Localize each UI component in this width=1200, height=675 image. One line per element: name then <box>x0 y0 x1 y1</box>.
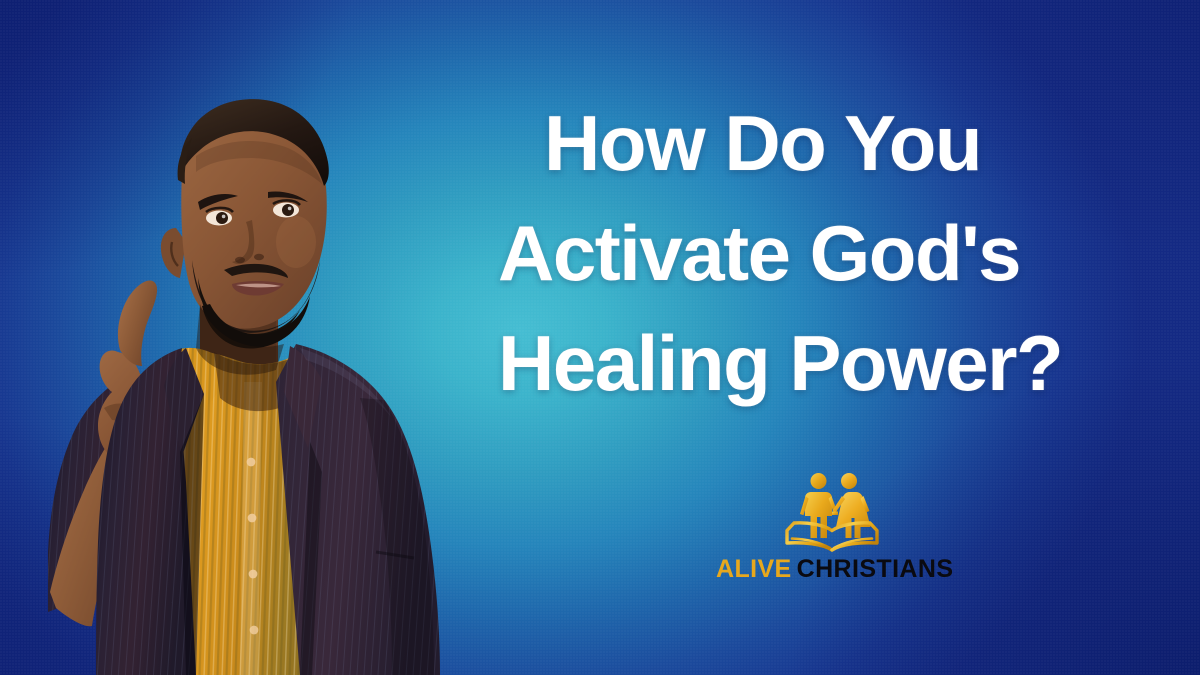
logo-word-christians: CHRISTIANS <box>797 555 954 583</box>
title-line-3: Healing Power? <box>498 308 1098 418</box>
alive-christians-logo[interactable]: ALIVECHRISTIANS <box>716 470 948 590</box>
thinking-man-photo <box>0 52 492 675</box>
logo-mark-figures-on-book <box>762 470 902 561</box>
title-block: How Do You Activate God's Healing Power? <box>498 88 1098 418</box>
logo-wordmark: ALIVECHRISTIANS <box>716 555 948 584</box>
title-line-1: How Do You <box>498 88 1098 198</box>
logo-word-alive: ALIVE <box>716 555 792 583</box>
title-line-2: Activate God's <box>498 198 1098 308</box>
thumbnail-canvas: How Do You Activate God's Healing Power? <box>0 0 1200 675</box>
